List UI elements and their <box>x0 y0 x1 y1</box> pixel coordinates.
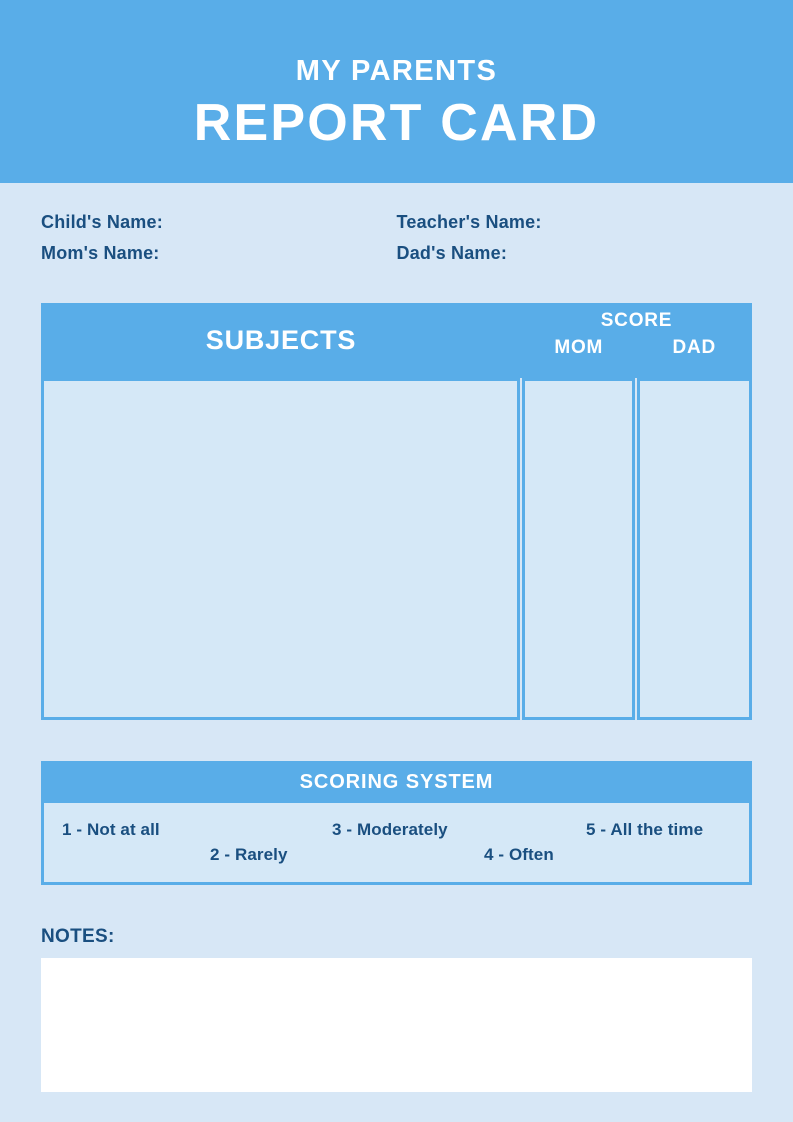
scoring-item-5: 5 - All the time <box>586 820 703 840</box>
scoring-item-4: 4 - Often <box>484 845 554 865</box>
column-header-score: SCORE <box>521 310 752 332</box>
scoring-item-1: 1 - Not at all <box>62 820 160 840</box>
column-header-subjects: SUBJECTS <box>41 303 521 378</box>
table-body <box>41 378 752 720</box>
header-subtitle: MY PARENTS <box>296 57 497 86</box>
mom-name-field[interactable]: Mom's Name: <box>41 243 397 264</box>
column-header-score-group: SCORE MOM DAD <box>521 303 752 378</box>
dad-score-entry-area[interactable] <box>637 378 752 720</box>
notes-label: NOTES: <box>41 926 752 948</box>
subjects-entry-area[interactable] <box>41 378 520 720</box>
dad-name-field[interactable]: Dad's Name: <box>397 243 753 264</box>
scoring-system-box: SCORING SYSTEM 1 - Not at all 2 - Rarely… <box>41 761 752 885</box>
child-name-label: Child's Name: <box>41 212 163 232</box>
notes-input-area[interactable] <box>41 958 752 1092</box>
subjects-table: SUBJECTS SCORE MOM DAD <box>41 303 752 720</box>
name-fields-section: Child's Name: Teacher's Name: Mom's Name… <box>41 212 752 274</box>
table-header-row: SUBJECTS SCORE MOM DAD <box>41 303 752 378</box>
column-header-dad: DAD <box>637 337 753 378</box>
name-row-2: Mom's Name: Dad's Name: <box>41 243 752 264</box>
notes-section: NOTES: <box>41 926 752 1092</box>
column-header-mom: MOM <box>521 337 637 378</box>
teacher-name-field[interactable]: Teacher's Name: <box>397 212 753 233</box>
mom-score-entry-area[interactable] <box>522 378 636 720</box>
scoring-system-legend: 1 - Not at all 2 - Rarely 3 - Moderately… <box>41 803 752 885</box>
page-title: REPORT CARD <box>194 97 600 149</box>
scoring-system-title: SCORING SYSTEM <box>41 761 752 803</box>
teacher-name-label: Teacher's Name: <box>397 212 542 232</box>
child-name-field[interactable]: Child's Name: <box>41 212 397 233</box>
mom-name-label: Mom's Name: <box>41 243 160 263</box>
scoring-item-3: 3 - Moderately <box>332 820 448 840</box>
scoring-item-2: 2 - Rarely <box>210 845 288 865</box>
score-subcolumns: MOM DAD <box>521 337 752 378</box>
header-banner: MY PARENTS REPORT CARD <box>0 0 793 183</box>
dad-name-label: Dad's Name: <box>397 243 508 263</box>
name-row-1: Child's Name: Teacher's Name: <box>41 212 752 233</box>
